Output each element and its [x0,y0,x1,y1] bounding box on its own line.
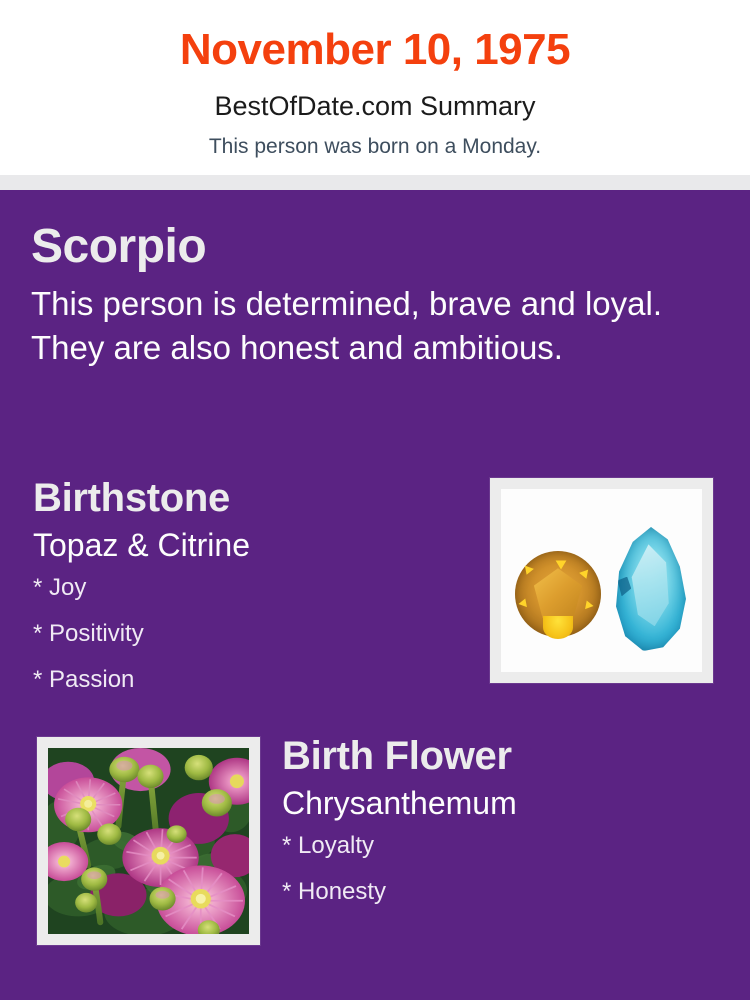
list-item: * Honesty [282,880,722,926]
birthstone-traits-list: * Joy * Positivity * Passion [33,561,473,714]
chrysanthemum-illustration [48,748,249,934]
facet-sparkle [583,599,594,609]
birthstone-section: Birthstone Topaz & Citrine * Joy * Posit… [33,478,473,714]
birthstone-photo [501,489,702,672]
facet-sparkle [522,566,534,577]
citrine-gem-icon [515,551,601,637]
birth-flower-section: Birth Flower Chrysanthemum * Loyalty * H… [282,736,722,926]
birth-flower-image-frame [37,737,260,945]
list-item: * Loyalty [282,834,722,880]
list-item: * Joy [33,576,473,622]
zodiac-description: This person is determined, brave and loy… [31,271,691,370]
birthstone-title: Birthstone [33,478,473,518]
page-title: November 10, 1975 [0,0,750,72]
zodiac-sign-name: Scorpio [31,223,711,271]
facet-sparkle [519,597,530,607]
birth-flower-traits-list: * Loyalty * Honesty [282,819,722,926]
born-day-text: This person was born on a Monday. [0,120,750,157]
birth-flower-title: Birth Flower [282,736,722,776]
birthstone-image-frame [490,478,713,683]
summary-header: November 10, 1975 BestOfDate.com Summary… [0,0,750,175]
topaz-gem-icon [613,527,689,651]
header-divider [0,175,750,190]
zodiac-section: Scorpio This person is determined, brave… [31,223,711,370]
facet-sparkle [579,570,591,581]
facet-sparkle [555,560,566,569]
birthstone-name: Topaz & Citrine [33,518,473,561]
list-item: * Positivity [33,622,473,668]
list-item: * Passion [33,668,473,714]
birth-flower-name: Chrysanthemum [282,776,722,819]
birth-flower-photo [48,748,249,934]
site-summary-label: BestOfDate.com Summary [0,72,750,120]
